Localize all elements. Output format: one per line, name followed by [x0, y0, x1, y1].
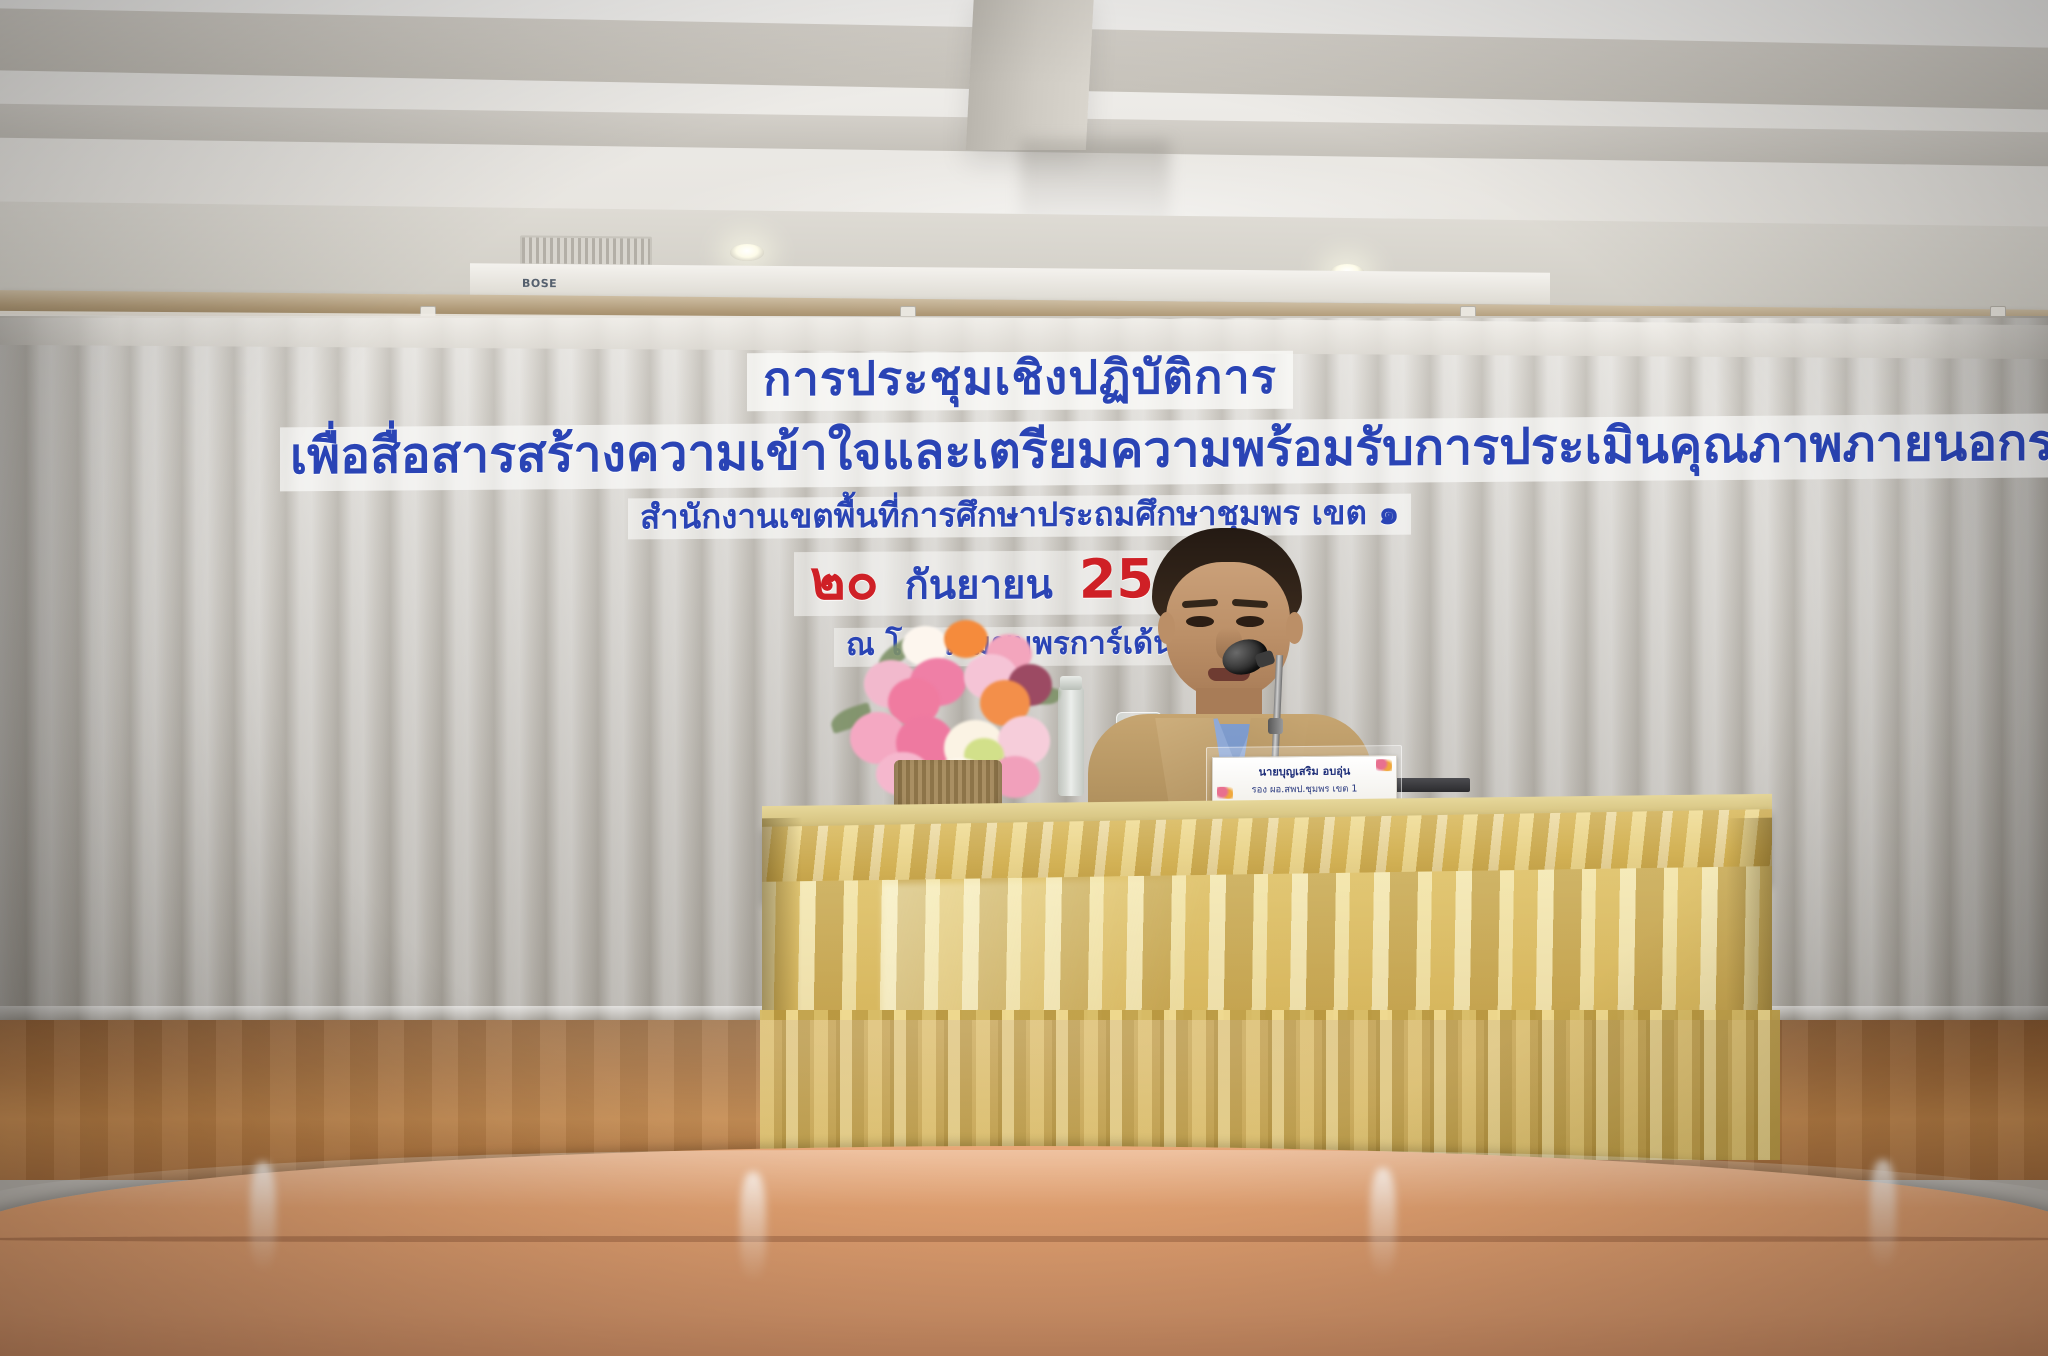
apron-specular	[1870, 1160, 1896, 1270]
left-wall-shadow	[0, 316, 120, 1058]
microphone-joint	[1268, 718, 1283, 734]
flower-petal	[944, 620, 988, 658]
downlight-icon	[730, 244, 764, 261]
stage-apron-groove	[0, 1236, 2048, 1242]
apron-specular	[250, 1162, 276, 1272]
eye-right	[1236, 616, 1264, 627]
conference-hall-photo: BOSE การประชุมเชิงปฏิบัติการ เพื่อสื่อสา…	[0, 0, 2048, 1356]
nameplate-name: นายบุญเสริม อบอุ่น	[1259, 761, 1351, 780]
apron-specular	[740, 1172, 766, 1282]
nameplate-role: รอง ผอ.สพป.ชุมพร เขต 1	[1252, 781, 1358, 797]
air-vent-icon	[520, 235, 652, 266]
ear-left	[1158, 612, 1175, 644]
banner-line-2: เพื่อสื่อสารสร้างความเข้าใจและเตรียมความ…	[280, 413, 2048, 492]
apron-specular	[1370, 1168, 1396, 1278]
nameplate: นายบุญเสริม อบอุ่น รอง ผอ.สพป.ชุมพร เขต …	[1212, 755, 1397, 803]
water-bottle	[1058, 684, 1084, 796]
flower-deco-icon	[1217, 787, 1233, 799]
bottle-cap	[1060, 676, 1082, 690]
banner-date-day: ๒๐	[810, 554, 879, 608]
banner-line-1: การประชุมเชิงปฏิบัติการ	[747, 351, 1293, 411]
rail-brand-label: BOSE	[522, 277, 557, 290]
eye-left	[1186, 616, 1214, 627]
banner-date-month: กันยายน	[905, 565, 1053, 606]
ear-right	[1286, 612, 1303, 644]
ceiling-drop-beam	[966, 0, 1094, 150]
flower-deco-icon	[1376, 759, 1392, 771]
